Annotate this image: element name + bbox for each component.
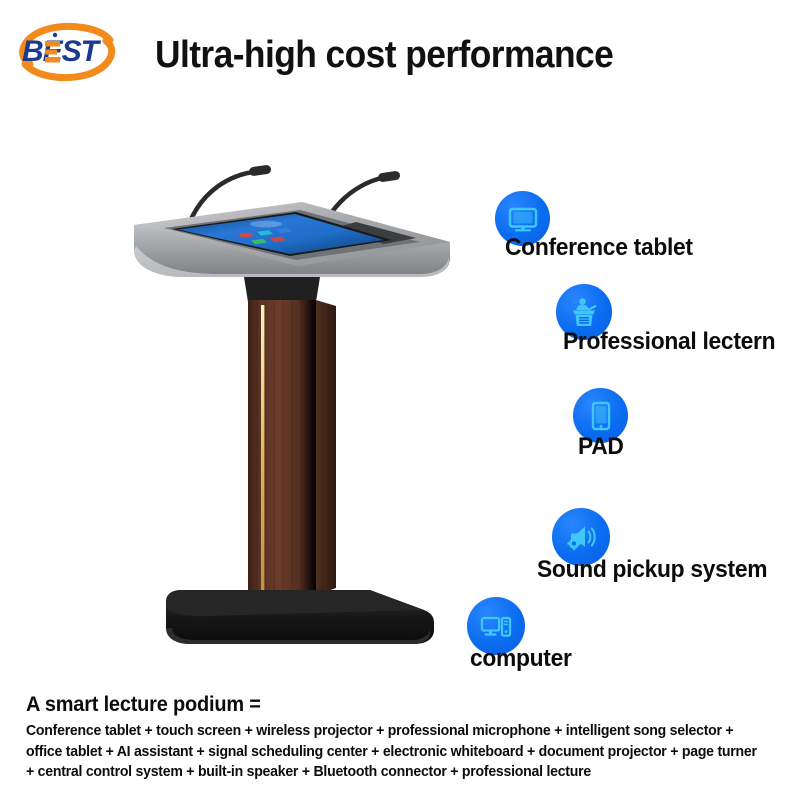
led-accent-strip (261, 305, 264, 597)
feature-label: Sound pickup system (537, 556, 767, 584)
svg-text:BEST: BEST (22, 35, 102, 68)
feature-label: PAD (578, 433, 624, 461)
feature-label: Conference tablet (505, 234, 693, 262)
summary-heading: A smart lecture podium = (26, 692, 748, 717)
summary-block: A smart lecture podium = Conference tabl… (26, 692, 786, 783)
summary-lines: Conference tablet + touch screen + wirel… (26, 721, 786, 783)
summary-line: + central control system + built-in spea… (26, 762, 759, 783)
header: BEST Ultra-high cost performance (0, 0, 800, 110)
feature-label: computer (470, 645, 572, 673)
podium-base (166, 590, 434, 644)
best-logo-mark: BEST (14, 16, 122, 88)
podium-illustration (120, 150, 460, 660)
podium-tray (134, 202, 450, 277)
podium-collar (244, 277, 320, 302)
feature-list: Conference tablet Professional lectern (440, 185, 800, 685)
best-logo: BEST (14, 16, 122, 88)
page-title: Ultra-high cost performance (155, 33, 657, 77)
product-image-smart-lecture-podium (120, 150, 460, 660)
summary-line: office tablet + AI assistant + signal sc… (26, 742, 759, 763)
podium-column (248, 300, 336, 602)
feature-label: Professional lectern (563, 328, 775, 356)
summary-line: Conference tablet + touch screen + wirel… (26, 721, 759, 742)
